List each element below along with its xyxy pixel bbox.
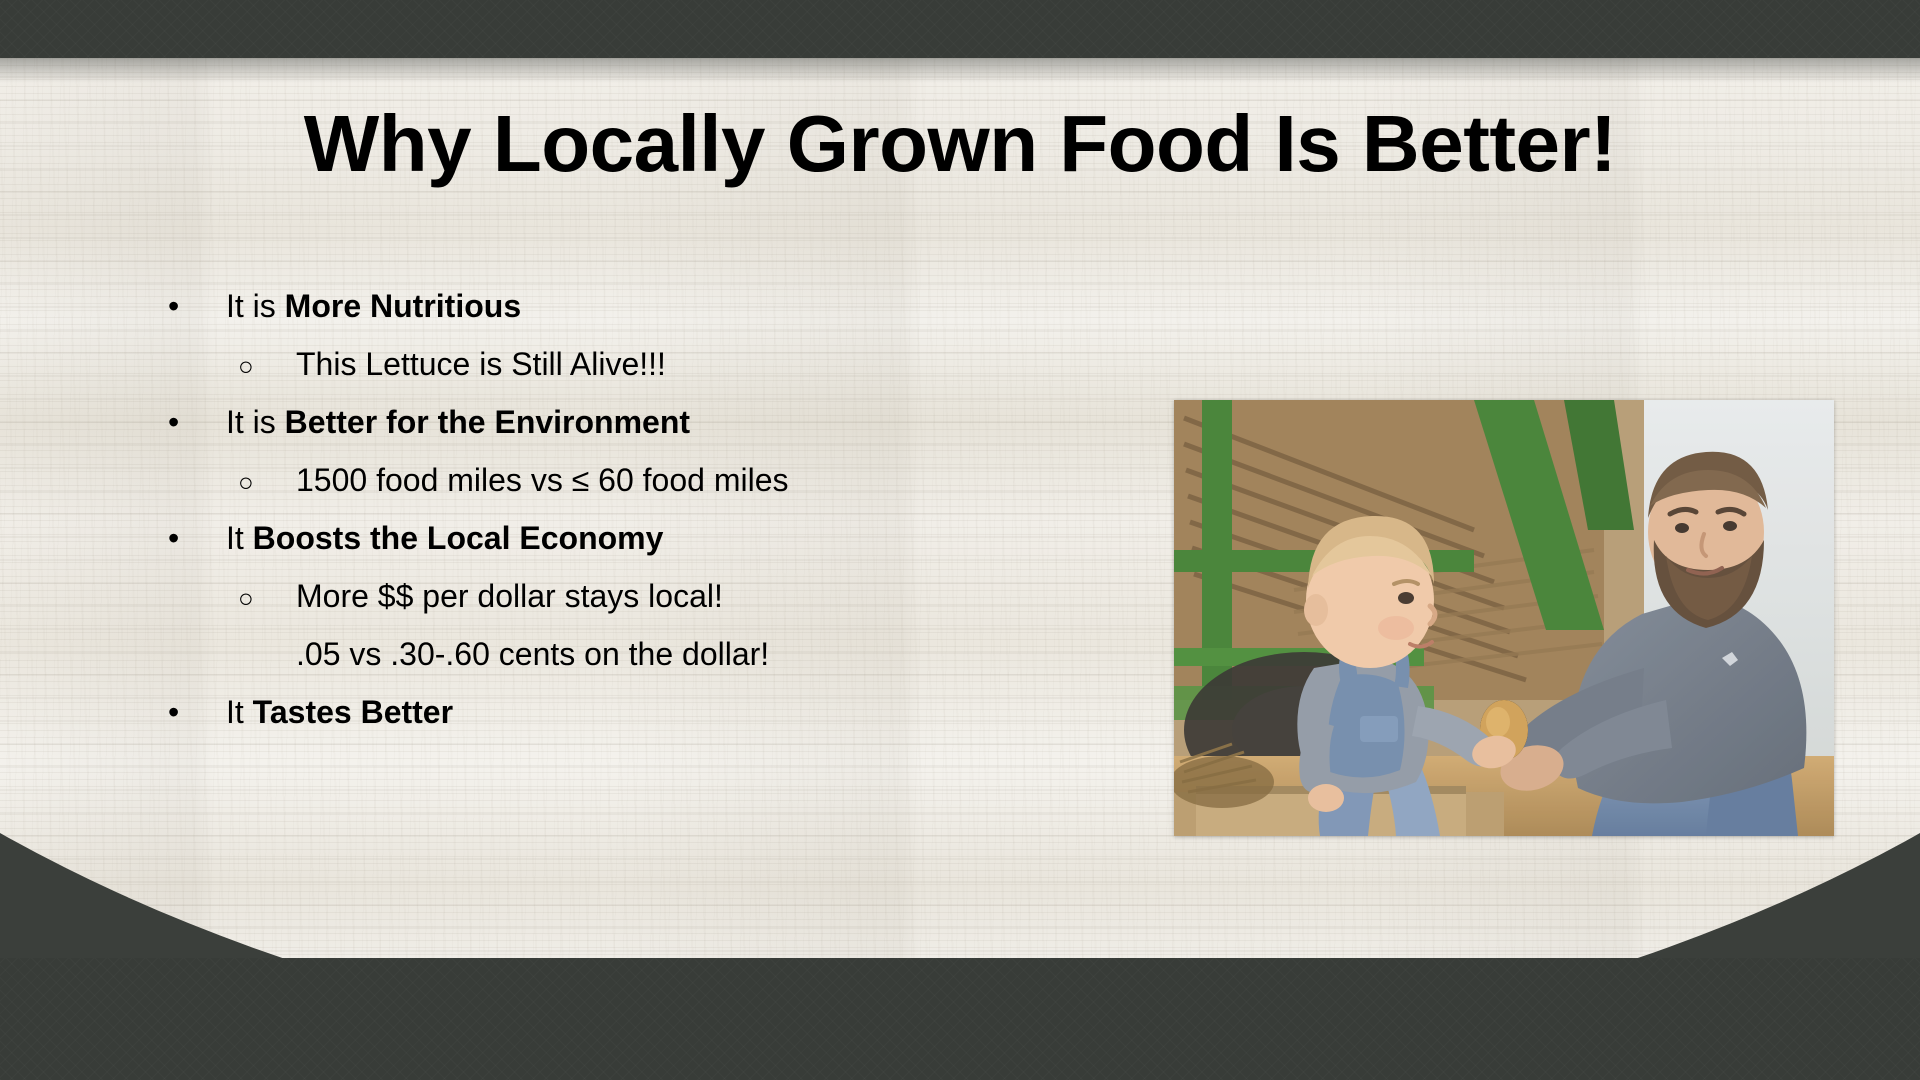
bullet-disc-icon: • xyxy=(168,406,226,438)
list-item-text: It Tastes Better xyxy=(226,696,1190,728)
list-item: • It Boosts the Local Economy xyxy=(150,522,1190,554)
list-item: .05 vs .30-.60 cents on the dollar! xyxy=(150,638,1190,670)
list-item-plain: .05 vs .30-.60 cents on the dollar! xyxy=(296,636,769,672)
list-item-text: It is Better for the Environment xyxy=(226,406,1190,438)
bullet-circle-icon: ○ xyxy=(238,585,296,611)
list-item: ○ 1500 food miles vs ≤ 60 food miles xyxy=(150,464,1190,496)
list-item: ○ This Lettuce is Still Alive!!! xyxy=(150,348,1190,380)
list-item-bold: Boosts the Local Economy xyxy=(253,520,664,556)
list-item-text: More $$ per dollar stays local! xyxy=(296,580,1190,612)
bullet-circle-icon: ○ xyxy=(238,353,296,379)
list-item-text: This Lettuce is Still Alive!!! xyxy=(296,348,1190,380)
farm-photo xyxy=(1174,400,1834,836)
list-item-bold: More Nutritious xyxy=(285,288,521,324)
list-item-plain: It xyxy=(226,694,253,730)
slide-canvas: Why Locally Grown Food Is Better! • It i… xyxy=(0,0,1920,1080)
top-band xyxy=(0,0,1920,58)
list-item-text: 1500 food miles vs ≤ 60 food miles xyxy=(296,464,1190,496)
list-item-text: It is More Nutritious xyxy=(226,290,1190,322)
bullet-circle-icon: ○ xyxy=(238,469,296,495)
list-item: • It Tastes Better xyxy=(150,696,1190,728)
list-item-plain: This Lettuce is Still Alive!!! xyxy=(296,346,666,382)
list-item-bold: Better for the Environment xyxy=(285,404,690,440)
list-item-plain: More $$ per dollar stays local! xyxy=(296,578,723,614)
list-item-bold: Tastes Better xyxy=(253,694,453,730)
bullet-list: • It is More Nutritious ○ This Lettuce i… xyxy=(150,290,1190,754)
list-item-text: .05 vs .30-.60 cents on the dollar! xyxy=(296,638,1190,670)
list-item: • It is Better for the Environment xyxy=(150,406,1190,438)
list-item: • It is More Nutritious xyxy=(150,290,1190,322)
page-title: Why Locally Grown Food Is Better! xyxy=(0,104,1920,184)
bullet-disc-icon: • xyxy=(168,522,226,554)
farm-photo-illustration xyxy=(1174,400,1834,836)
bottom-band xyxy=(0,958,1920,1080)
list-item-plain: It xyxy=(226,520,253,556)
list-item-plain: It is xyxy=(226,404,285,440)
list-item-text: It Boosts the Local Economy xyxy=(226,522,1190,554)
bullet-disc-icon: • xyxy=(168,290,226,322)
list-item-plain: 1500 food miles vs ≤ 60 food miles xyxy=(296,462,788,498)
list-item-plain: It is xyxy=(226,288,285,324)
list-item: ○ More $$ per dollar stays local! xyxy=(150,580,1190,612)
bullet-disc-icon: • xyxy=(168,696,226,728)
